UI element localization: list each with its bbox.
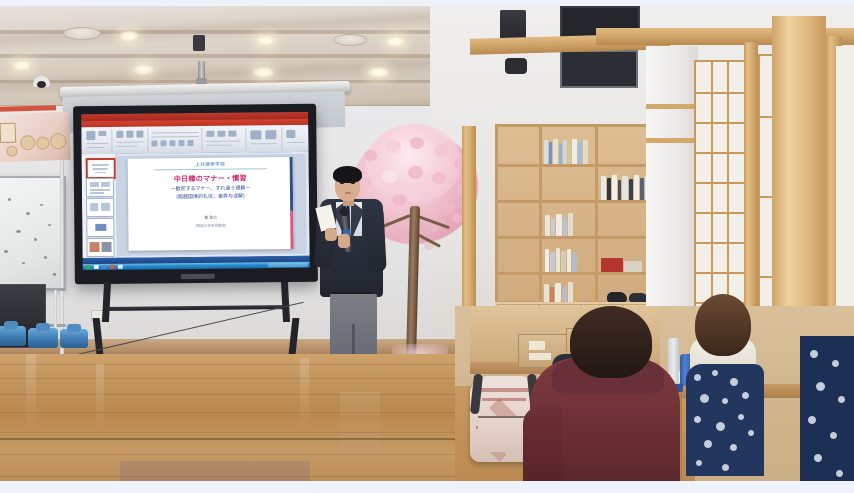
backpack-zipper bbox=[478, 416, 530, 418]
whiteboard-stand-pole bbox=[54, 290, 57, 328]
taskbar-app-icon[interactable] bbox=[110, 265, 115, 269]
floor-seam bbox=[0, 438, 470, 440]
slide-subtitle-chinese: (超越国境的礼仪、差异与误解) bbox=[128, 192, 293, 201]
slide-thumbnail[interactable] bbox=[86, 198, 114, 217]
display-screen[interactable]: 上外建桥学院 中日韓のマナー・慣習 ー歓迎するマナー、すれ違う理解ー (超越国境… bbox=[81, 112, 310, 270]
ceiling-vent bbox=[333, 34, 367, 46]
wall-poster bbox=[0, 112, 71, 163]
ceiling-vent bbox=[63, 27, 101, 40]
screenshot-canvas: 上外建桥学院 中日韓のマナー・慣習 ー歓迎するマナー、すれ違う理解ー (超越国境… bbox=[0, 0, 854, 493]
ceiling-projector-mount bbox=[193, 35, 205, 51]
slide-presenter-name: 崔 珠仁 bbox=[128, 214, 293, 222]
letterbox-bottom bbox=[0, 481, 854, 493]
books-group bbox=[543, 210, 591, 236]
whiteboard[interactable] bbox=[0, 176, 66, 290]
windows-taskbar[interactable] bbox=[83, 262, 310, 270]
audience-member-floral-cardigan bbox=[686, 364, 764, 476]
shoes-on-shelf bbox=[607, 284, 649, 302]
ceiling-downlight bbox=[368, 67, 389, 78]
slide-editing-area[interactable]: 上外建桥学院 中日韓のマナー・慣習 ー歓迎するマナー、すれ違う理解ー (超越国境… bbox=[116, 154, 307, 256]
blue-equipment-base bbox=[60, 329, 88, 348]
audience-member-hair bbox=[570, 306, 652, 378]
ceiling-downlight bbox=[133, 64, 154, 75]
ceiling-downlight bbox=[255, 35, 276, 46]
books-group bbox=[543, 280, 603, 302]
presenter-hair bbox=[333, 166, 362, 183]
column-wood-band bbox=[646, 104, 698, 109]
ceiling-downlight bbox=[253, 67, 274, 78]
presenter-hand bbox=[325, 228, 337, 241]
system-tray[interactable] bbox=[268, 263, 308, 267]
ceiling-downlight bbox=[385, 36, 406, 47]
current-slide[interactable]: 上外建桥学院 中日韓のマナー・慣習 ー歓迎するマナー、すれ違う理解ー (超越国境… bbox=[128, 157, 294, 251]
column-wood-band bbox=[646, 138, 698, 143]
start-button-icon[interactable] bbox=[86, 265, 91, 269]
slide-header-rule bbox=[154, 168, 267, 170]
ceiling-downlight bbox=[12, 60, 32, 71]
books-group bbox=[543, 138, 591, 164]
presenter-eye bbox=[340, 182, 344, 184]
slide-side-accent-bar bbox=[290, 157, 294, 249]
wood-pillar bbox=[772, 16, 826, 346]
powerpoint-ribbon[interactable] bbox=[81, 125, 308, 154]
display-brand-label bbox=[181, 274, 215, 279]
slide-thumbnail[interactable] bbox=[86, 238, 114, 257]
poster-badge bbox=[0, 123, 16, 144]
slide-thumbnail[interactable] bbox=[86, 178, 114, 197]
ceiling-downlight bbox=[119, 31, 139, 42]
taskbar-app-icon[interactable] bbox=[94, 265, 99, 269]
books-group bbox=[543, 246, 591, 272]
presenter-mouth bbox=[345, 192, 351, 194]
photograph: 上外建桥学院 中日韓のマナー・慣習 ー歓迎するマナー、すれ違う理解ー (超越国境… bbox=[0, 6, 854, 487]
taskbar-app-icon[interactable] bbox=[102, 265, 107, 269]
powerpoint-workspace: 上外建桥学院 中日韓のマナー・慣習 ー歓迎するマナー、すれ違う理解ー (超越国境… bbox=[82, 152, 310, 258]
flat-panel-display[interactable]: 上外建桥学院 中日韓のマナー・慣習 ー歓迎するマナー、すれ違う理解ー (超越国境… bbox=[73, 104, 318, 285]
presenter-eye bbox=[351, 182, 355, 184]
slide-title-text: 中日韓のマナー・慣習 bbox=[128, 173, 293, 185]
stage-spotlight bbox=[505, 58, 527, 74]
bookshelf bbox=[495, 124, 667, 304]
slide-presenter-affiliation: (筑波大学名誉教授) bbox=[128, 223, 293, 230]
poster-circle bbox=[20, 135, 36, 151]
slide-thumbnail-pane[interactable] bbox=[82, 154, 118, 258]
books-group bbox=[599, 246, 649, 272]
presenter-hand bbox=[338, 234, 350, 248]
slide-header-text: 上外建桥学院 bbox=[128, 161, 293, 169]
blue-equipment-base bbox=[28, 328, 58, 348]
poster-circle bbox=[36, 136, 49, 149]
poster-circle bbox=[50, 133, 67, 150]
slide-thumbnail[interactable] bbox=[86, 218, 114, 237]
poster-circle bbox=[6, 146, 17, 157]
audience-member-arm bbox=[523, 406, 563, 487]
shoji-panel-edge bbox=[836, 46, 854, 346]
blue-equipment-base bbox=[0, 326, 26, 346]
taskbar-app-icon[interactable] bbox=[118, 265, 123, 269]
white-column bbox=[646, 46, 698, 346]
audience-member-floral-garment bbox=[800, 336, 854, 487]
presenter-arm bbox=[364, 206, 386, 273]
dark-window bbox=[560, 50, 638, 88]
security-camera-icon bbox=[33, 76, 50, 87]
ceiling-sprinkler bbox=[198, 61, 205, 83]
slide-thumbnail[interactable] bbox=[86, 158, 116, 179]
audience-member-hair bbox=[695, 294, 751, 356]
